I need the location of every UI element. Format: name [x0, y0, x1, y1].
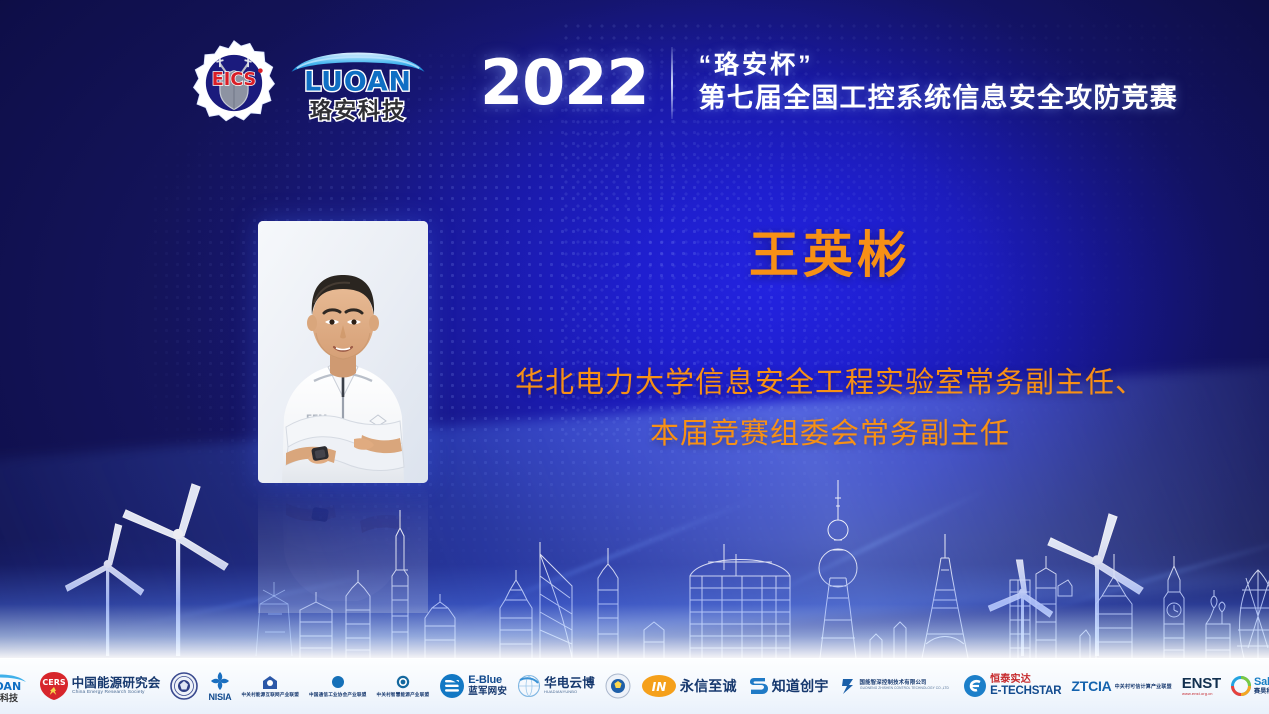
cers-text: 中国能源研究会 China Energy Research Society [72, 677, 161, 696]
integrity-cn: 永信至诚 [680, 676, 737, 696]
integrity-icon: IN [641, 674, 677, 698]
sponsor-luoan: LUOAN 珞安科技 [0, 666, 34, 706]
event-title-block: “珞安杯” 第七届全国工控系统信息安全攻防竞赛 [699, 51, 1178, 114]
sponsor-etechstar: 恒泰实达 E-TECHSTAR [958, 666, 1066, 706]
huadianyunbo-text: 华电云博 HUADIANYUNBO [544, 677, 595, 695]
eblue-text: E-Blue 蓝军网安 [468, 675, 507, 697]
speaker-name: 王英彬 [430, 228, 1230, 283]
zgcxny-text: 中关村能源互联网产业联盟 [241, 675, 299, 698]
sponsor-enst: ENST www.enst.org.cn [1177, 666, 1226, 706]
sahoo-cn: 赛昊科技 [1254, 689, 1269, 695]
ground-glow [0, 538, 1269, 658]
speaker-title-line-2: 本届竞赛组委会常务副主任 [430, 409, 1230, 460]
speaker-photo: EEM ET 03 [258, 221, 428, 483]
eblue-icon [439, 673, 465, 699]
cetc-seal-icon [605, 673, 631, 699]
sponsor-nisia: NISIA [203, 666, 236, 706]
huadianyunbo-icon [517, 674, 541, 698]
sponsor-logo-bar: LUOAN 珞安科技 CERS 中国能源研究会 China Energy Res… [0, 658, 1269, 714]
cida-text: 中国通信工业协会产业联盟 [309, 675, 367, 698]
zgcznny-text: 中关村智慧能源产业联盟 [377, 675, 430, 698]
sponsor-integrity: IN 永信至诚 [636, 666, 742, 706]
cers-en: China Energy Research Society [72, 690, 156, 695]
sahoo-text: Sahoo 赛昊科技 [1254, 677, 1269, 695]
etechstar-text: 恒泰实达 E-TECHSTAR [990, 675, 1061, 698]
zgcxny-cn: 中关村能源互联网产业联盟 [241, 693, 299, 698]
eics-gear-logo: EICS [190, 39, 278, 127]
etechstar-cn: 恒泰实达 [990, 675, 1061, 686]
knownsec-cn: 知道创宇 [772, 676, 829, 696]
svg-text:珞安科技: 珞安科技 [0, 692, 19, 703]
luoan-sponsor-icon: LUOAN 珞安科技 [0, 669, 29, 703]
svg-text:LUOAN: LUOAN [304, 66, 412, 97]
sponsor-gjznkz: 国能智深控制技术有限公司 GUONENG ZHISHEN CONTROL TEC… [834, 666, 959, 706]
nisia-text: NISIA [208, 670, 231, 702]
gjznkz-text: 国能智深控制技术有限公司 GUONENG ZHISHEN CONTROL TEC… [860, 681, 954, 690]
ztcia-cn: 中关村可信计算产业联盟 [1115, 683, 1172, 690]
sponsor-cers: CERS 中国能源研究会 China Energy Research Socie… [34, 666, 166, 706]
event-full-title: 第七届全国工控系统信息安全攻防竞赛 [699, 82, 1178, 114]
zgcxny-icon [260, 675, 280, 693]
ztcia-latin: ZTCIA [1071, 678, 1111, 694]
speaker-portrait-illustration: EEM ET 03 [258, 221, 428, 483]
event-year: 2022 [480, 52, 649, 114]
etechstar-latin: E-TECHSTAR [990, 685, 1061, 697]
nisia-icon [209, 670, 231, 692]
nisia-label: NISIA [208, 693, 231, 702]
svg-text:珞安科技: 珞安科技 [310, 97, 406, 123]
sahoo-latin: Sahoo [1254, 677, 1269, 689]
header-divider [671, 47, 673, 119]
sponsor-huadianyunbo: 华电云博 HUADIANYUNBO [512, 666, 600, 706]
sponsor-eblue: E-Blue 蓝军网安 [434, 666, 512, 706]
cida-cn: 中国通信工业协会产业联盟 [309, 693, 367, 698]
year-block: 2022 [480, 47, 699, 119]
reflection-illustration [258, 485, 428, 613]
speaker-title-line-1: 华北电力大学信息安全工程实验室常务副主任、 [430, 358, 1230, 409]
speaker-photo-wrap: EEM ET 03 [258, 221, 428, 483]
zgcznny-icon [393, 675, 413, 693]
sponsor-cida: 中国通信工业协会产业联盟 [304, 666, 372, 706]
header: EICS LUOAN 珞安科技 2022 [190, 30, 1178, 135]
sponsor-sahoo: Sahoo 赛昊科技 [1226, 666, 1269, 706]
sponsor-knownsec: 知道创宇 [742, 666, 834, 706]
sponsor-zgcznny: 中关村智慧能源产业联盟 [372, 666, 435, 706]
speaker-photo-reflection [258, 485, 428, 613]
knownsec-icon [747, 674, 769, 698]
cers-cn: 中国能源研究会 [72, 677, 161, 690]
enst-url: www.enst.org.cn [1182, 692, 1219, 696]
etechstar-icon [963, 674, 987, 698]
svg-text:EICS: EICS [212, 69, 256, 89]
nisia-seal-icon [170, 672, 198, 700]
sahoo-icon [1231, 676, 1251, 696]
gjznkz-icon [839, 676, 857, 696]
sponsor-nisia-seal [165, 666, 203, 706]
zgcznny-cn: 中关村智慧能源产业联盟 [377, 693, 430, 698]
sponsor-cetc-seal [600, 666, 636, 706]
svg-text:IN: IN [652, 680, 667, 694]
svg-text:CERS: CERS [42, 678, 65, 687]
event-cup-name: “珞安杯” [699, 51, 1178, 79]
slide-stage: EICS LUOAN 珞安科技 2022 [0, 0, 1269, 714]
speaker-titles: 华北电力大学信息安全工程实验室常务副主任、 本届竞赛组委会常务副主任 [430, 358, 1230, 460]
enst-text: ENST www.enst.org.cn [1182, 676, 1221, 696]
sponsor-ztcia: ZTCIA 中关村可信计算产业联盟 [1066, 666, 1176, 706]
luoan-logo: LUOAN 珞安科技 [284, 40, 432, 126]
sponsor-zgcxny: 中关村能源互联网产业联盟 [236, 666, 304, 706]
cers-icon: CERS [39, 671, 69, 701]
huadianyunbo-en: HUADIANYUNBO [544, 690, 592, 694]
gjznkz-en: GUONENG ZHISHEN CONTROL TECHNOLOGY CO.,L… [860, 687, 949, 690]
cida-icon [328, 675, 348, 693]
enst-latin: ENST [1182, 676, 1221, 692]
svg-text:LUOAN: LUOAN [0, 680, 21, 693]
eblue-cn: 蓝军网安 [468, 687, 507, 697]
